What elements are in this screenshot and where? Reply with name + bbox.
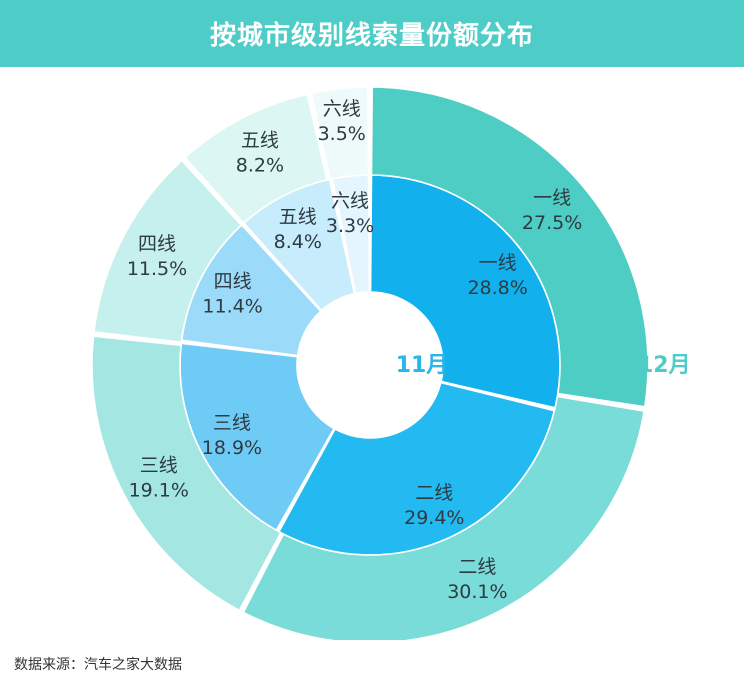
slice-category-label: 五线	[279, 206, 317, 228]
footer-bar: 数据来源：汽车之家大数据	[0, 640, 744, 688]
outer-ring-month-label: 12月	[638, 353, 691, 378]
slice-category-label: 一线	[479, 252, 517, 274]
inner-ring-month-label: 11月	[396, 353, 449, 378]
slice-category-label: 五线	[241, 130, 279, 152]
slice-category-label: 六线	[331, 190, 369, 212]
donut-slices	[92, 87, 648, 640]
slice-value-label: 29.4%	[404, 507, 464, 529]
nested-donut-chart: 一线28.8%二线29.4%三线18.9%四线11.4%五线8.4%六线3.3%…	[0, 67, 744, 640]
slice-category-label: 六线	[323, 98, 361, 120]
slice-category-label: 二线	[415, 482, 453, 504]
chart-page: 按城市级别线索量份额分布 一线28.8%二线29.4%三线18.9%四线11.4…	[0, 0, 744, 688]
slice-value-label: 19.1%	[129, 479, 189, 501]
slice-category-label: 二线	[458, 556, 496, 578]
slice-category-label: 三线	[140, 454, 178, 476]
slice-value-label: 27.5%	[522, 212, 582, 234]
page-title: 按城市级别线索量份额分布	[210, 15, 534, 52]
slice-category-label: 四线	[138, 233, 176, 255]
slice-value-label: 3.3%	[326, 215, 374, 237]
slice-value-label: 11.4%	[202, 296, 262, 318]
slice-value-label: 8.2%	[236, 155, 284, 177]
slice-value-label: 8.4%	[274, 231, 322, 253]
slice-category-label: 四线	[214, 271, 252, 293]
slice-value-label: 11.5%	[127, 258, 187, 280]
slice-value-label: 28.8%	[467, 277, 527, 299]
header-bar: 按城市级别线索量份额分布	[0, 0, 744, 67]
donut-chart-area: 一线28.8%二线29.4%三线18.9%四线11.4%五线8.4%六线3.3%…	[0, 67, 744, 640]
slice-value-label: 3.5%	[318, 123, 366, 145]
slice-value-label: 30.1%	[447, 581, 507, 603]
slice-value-label: 18.9%	[202, 437, 262, 459]
data-source-note: 数据来源：汽车之家大数据	[14, 654, 182, 674]
slice-category-label: 一线	[533, 187, 571, 209]
slice-category-label: 三线	[213, 412, 251, 434]
